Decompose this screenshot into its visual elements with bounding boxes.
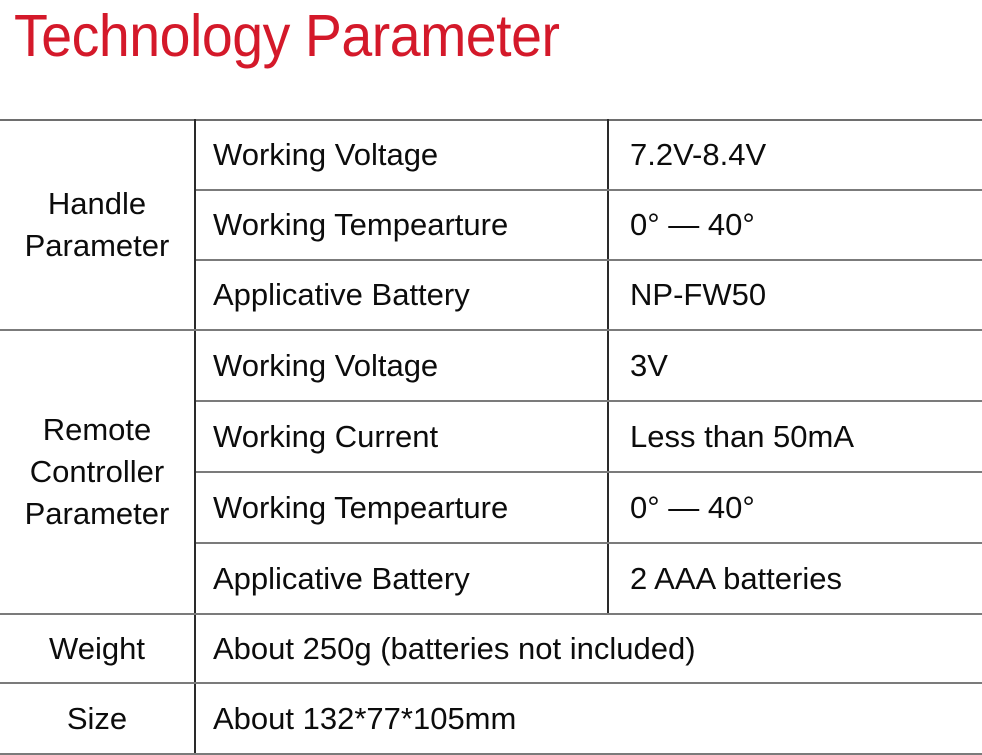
table-row: Handle Parameter Working Voltage 7.2V-8.… xyxy=(0,120,982,190)
param-value: 0° — 40° xyxy=(608,190,982,260)
group-label-handle-parameter: Handle Parameter xyxy=(0,120,195,330)
param-key: Working Voltage xyxy=(195,120,608,190)
param-key: Working Current xyxy=(195,401,608,472)
param-value: Less than 50mA xyxy=(608,401,982,472)
summary-label-weight: Weight xyxy=(0,614,195,683)
table-row: Size About 132*77*105mm xyxy=(0,683,982,754)
param-key: Working Voltage xyxy=(195,330,608,401)
technology-parameter-table: Handle Parameter Working Voltage 7.2V-8.… xyxy=(0,119,982,755)
group-label-remote-controller-parameter: Remote Controller Parameter xyxy=(0,330,195,614)
param-key: Applicative Battery xyxy=(195,260,608,330)
table-body: Handle Parameter Working Voltage 7.2V-8.… xyxy=(0,120,982,754)
group-label-line: Remote xyxy=(6,409,188,451)
param-key: Working Tempearture xyxy=(195,190,608,260)
param-value: 2 AAA batteries xyxy=(608,543,982,614)
page-title: Technology Parameter xyxy=(14,0,560,74)
param-key: Working Tempearture xyxy=(195,472,608,543)
table-row: Remote Controller Parameter Working Volt… xyxy=(0,330,982,401)
group-label-line: Handle xyxy=(6,183,188,225)
summary-value-size: About 132*77*105mm xyxy=(195,683,982,754)
param-value: 7.2V-8.4V xyxy=(608,120,982,190)
param-value: 3V xyxy=(608,330,982,401)
summary-label-size: Size xyxy=(0,683,195,754)
group-label-line: Controller xyxy=(6,451,188,493)
group-label-line: Parameter xyxy=(6,225,188,267)
summary-value-weight: About 250g (batteries not included) xyxy=(195,614,982,683)
param-value: 0° — 40° xyxy=(608,472,982,543)
param-key: Applicative Battery xyxy=(195,543,608,614)
table-row: Weight About 250g (batteries not include… xyxy=(0,614,982,683)
group-label-line: Parameter xyxy=(6,493,188,535)
spec-sheet-page: Technology Parameter Handle Parameter Wo… xyxy=(0,0,982,743)
param-value: NP-FW50 xyxy=(608,260,982,330)
